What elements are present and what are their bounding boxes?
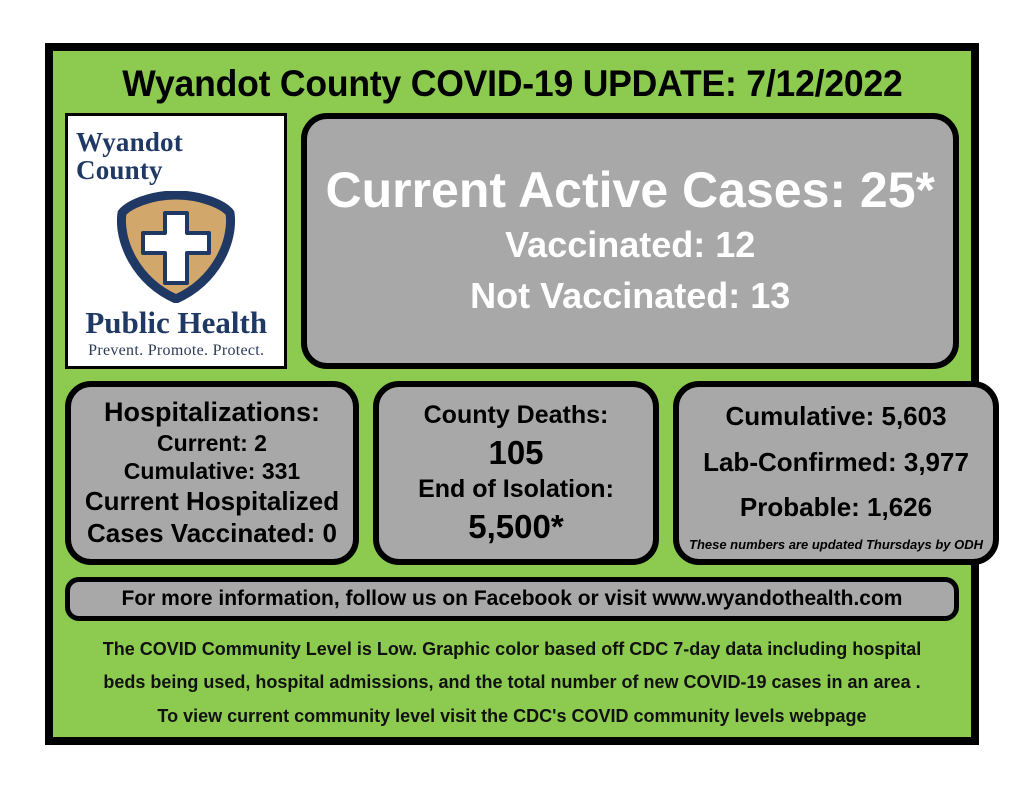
active-cases-card: Current Active Cases: 25* Vaccinated: 12… (301, 113, 959, 369)
stats-row: Hospitalizations: Current: 2 Cumulative:… (53, 369, 971, 565)
hospitalized-vaccinated-line2: Cases Vaccinated: 0 (87, 518, 337, 550)
hospitalizations-current: Current: 2 (157, 429, 267, 458)
logo-public-health: Public Health (85, 307, 267, 338)
footer-line-1: The COVID Community Level is Low. Graphi… (93, 633, 931, 666)
county-deaths-title: County Deaths: (424, 399, 609, 432)
logo-tagline: Prevent. Promote. Protect. (88, 342, 264, 360)
cumulative-total: Cumulative: 5,603 (725, 394, 946, 440)
county-deaths-count: 105 (488, 432, 543, 473)
active-cases-headline: Current Active Cases: 25* (325, 162, 935, 220)
page-title: Wyandot County COVID-19 UPDATE: 7/12/202… (122, 63, 902, 105)
active-cases-not-vaccinated: Not Vaccinated: 13 (470, 272, 790, 321)
health-department-logo: Wyandot County Public Health Prevent. Pr… (65, 113, 287, 369)
active-cases-vaccinated: Vaccinated: 12 (505, 221, 755, 270)
top-row: Wyandot County Public Health Prevent. Pr… (53, 113, 971, 369)
logo-county-name: Wyandot County (76, 128, 276, 185)
cumulative-stats-card: Cumulative: 5,603 Lab-Confirmed: 3,977 P… (673, 381, 999, 565)
footer-line-2: beds being used, hospital admissions, an… (93, 666, 931, 699)
end-of-isolation-count: 5,500* (468, 506, 563, 547)
hospitalizations-cumulative: Cumulative: 331 (124, 457, 300, 486)
county-deaths-card: County Deaths: 105 End of Isolation: 5,5… (373, 381, 659, 565)
covid-update-poster: Wyandot County COVID-19 UPDATE: 7/12/202… (45, 43, 979, 745)
hospitalizations-title: Hospitalizations: (104, 396, 320, 428)
probable-total: Probable: 1,626 (740, 485, 932, 531)
contact-bar-text: For more information, follow us on Faceb… (122, 587, 903, 611)
hospitalized-vaccinated-line1: Current Hospitalized (85, 486, 339, 518)
odh-update-note: These numbers are updated Thursdays by O… (689, 537, 983, 552)
community-level-footer: The COVID Community Level is Low. Graphi… (53, 621, 971, 733)
contact-bar-wrap: For more information, follow us on Faceb… (53, 565, 971, 621)
contact-bar[interactable]: For more information, follow us on Faceb… (65, 577, 959, 621)
footer-line-3: To view current community level visit th… (93, 700, 931, 733)
end-of-isolation-label: End of Isolation: (418, 473, 614, 506)
hospitalizations-card: Hospitalizations: Current: 2 Cumulative:… (65, 381, 359, 565)
lab-confirmed-total: Lab-Confirmed: 3,977 (703, 440, 969, 486)
poster-title-bar: Wyandot County COVID-19 UPDATE: 7/12/202… (53, 51, 971, 113)
shield-with-cross-icon (116, 191, 236, 303)
